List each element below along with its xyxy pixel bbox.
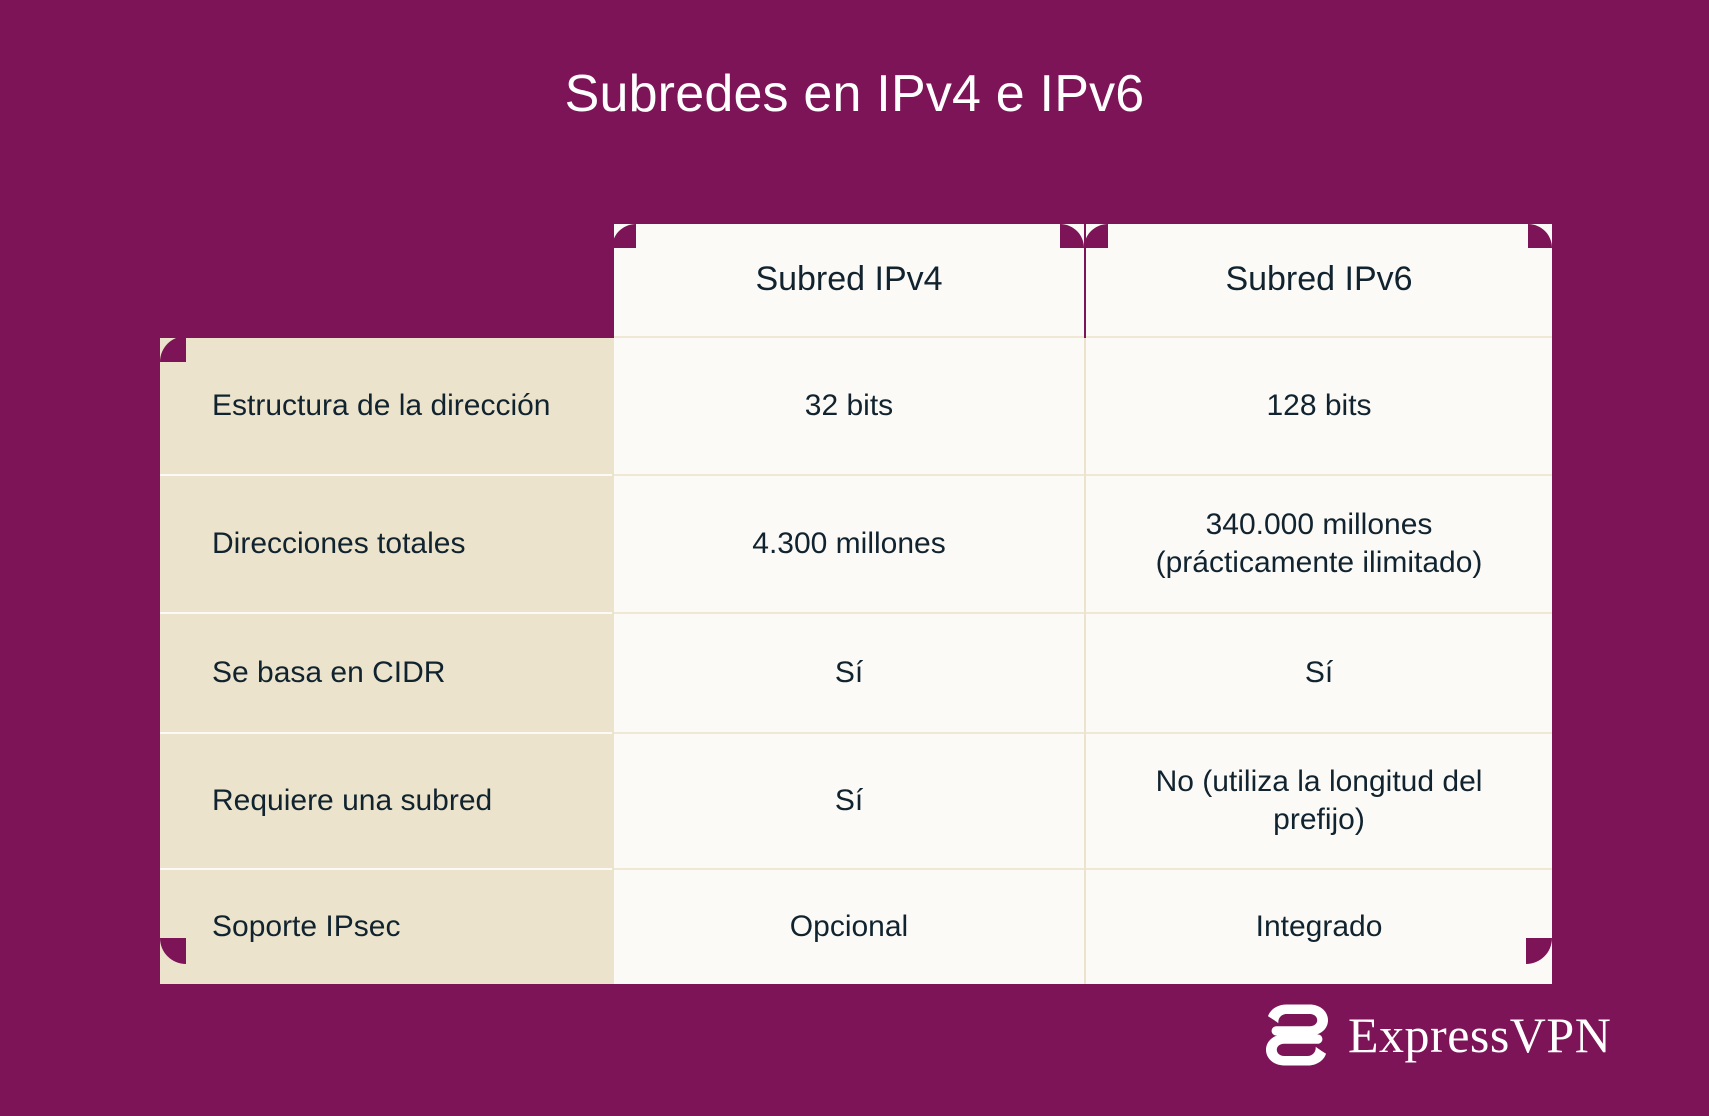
row-value-ipv4: 4.300 millones (614, 476, 1084, 612)
table-grid: Subred IPv4 Subred IPv6 Estructura de la… (160, 224, 1552, 964)
expressvpn-e-icon (1262, 1003, 1332, 1067)
row-value-ipv6: 128 bits (1086, 338, 1552, 474)
row-value-ipv6: No (utiliza la longitud del prefijo) (1086, 734, 1552, 868)
row-value-ipv6: 340.000 millones (prácticamente ilimitad… (1086, 476, 1552, 612)
row-value-ipv4: Opcional (614, 870, 1084, 984)
table-corner-blank (160, 224, 612, 336)
row-label: Direcciones totales (160, 476, 612, 612)
column-header-ipv4: Subred IPv4 (614, 224, 1084, 336)
expressvpn-wordmark: ExpressVPN (1348, 1010, 1611, 1060)
row-value-ipv6: Integrado (1086, 870, 1552, 984)
row-value-ipv6: Sí (1086, 614, 1552, 732)
row-label: Se basa en CIDR (160, 614, 612, 732)
comparison-table: Subred IPv4 Subred IPv6 Estructura de la… (160, 224, 1552, 964)
row-value-ipv4: Sí (614, 734, 1084, 868)
row-value-ipv4: Sí (614, 614, 1084, 732)
row-label: Estructura de la dirección (160, 338, 612, 474)
expressvpn-logo: ExpressVPN (1262, 1003, 1611, 1067)
row-label: Requiere una subred (160, 734, 612, 868)
column-header-ipv6: Subred IPv6 (1086, 224, 1552, 336)
row-label: Soporte IPsec (160, 870, 612, 984)
row-value-ipv4: 32 bits (614, 338, 1084, 474)
page-title: Subredes en IPv4 e IPv6 (0, 66, 1709, 123)
poster-canvas: Subredes en IPv4 e IPv6 Subred IPv4 Subr… (0, 0, 1709, 1116)
